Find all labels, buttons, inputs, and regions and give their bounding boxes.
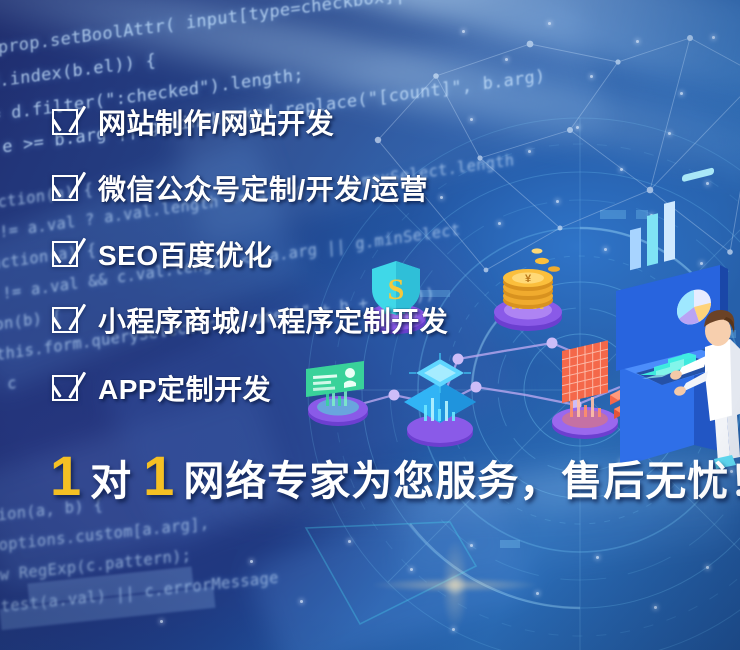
list-item[interactable]: 微信公众号定制/开发/运营 bbox=[52, 164, 448, 212]
feature-label: APP定制开发 bbox=[98, 368, 271, 408]
checked-checkbox-icon bbox=[52, 375, 78, 401]
checked-checkbox-icon bbox=[52, 307, 78, 333]
headline-number-first: 1 bbox=[50, 448, 81, 504]
service-feature-list: 网站制作/网站开发 微信公众号定制/开发/运营 SEO百度优化 小程序商城/小程… bbox=[52, 98, 448, 430]
checked-checkbox-icon bbox=[52, 109, 78, 135]
list-item[interactable]: SEO百度优化 bbox=[52, 230, 448, 278]
banner-content: 网站制作/网站开发 微信公众号定制/开发/运营 SEO百度优化 小程序商城/小程… bbox=[0, 0, 740, 650]
headline-tail-text: 网络专家为您服务，售后无忧！ bbox=[183, 461, 740, 502]
feature-label: 小程序商城/小程序定制开发 bbox=[98, 300, 448, 340]
list-item[interactable]: APP定制开发 bbox=[52, 364, 448, 412]
headline-connector: 对 bbox=[90, 461, 132, 502]
feature-label: SEO百度优化 bbox=[98, 234, 273, 274]
headline-number-second: 1 bbox=[143, 448, 174, 504]
headline-slogan: 1 对 1 网络专家为您服务，售后无忧！ bbox=[50, 448, 740, 504]
list-item[interactable]: 网站制作/网站开发 bbox=[52, 98, 448, 146]
feature-label: 网站制作/网站开发 bbox=[98, 102, 334, 142]
promo-banner: .prop.setBoolAttr( input[type=checkbox]|… bbox=[0, 0, 740, 650]
checked-checkbox-icon bbox=[52, 241, 78, 267]
list-item[interactable]: 小程序商城/小程序定制开发 bbox=[52, 296, 448, 344]
checked-checkbox-icon bbox=[52, 175, 78, 201]
feature-label: 微信公众号定制/开发/运营 bbox=[98, 168, 428, 208]
